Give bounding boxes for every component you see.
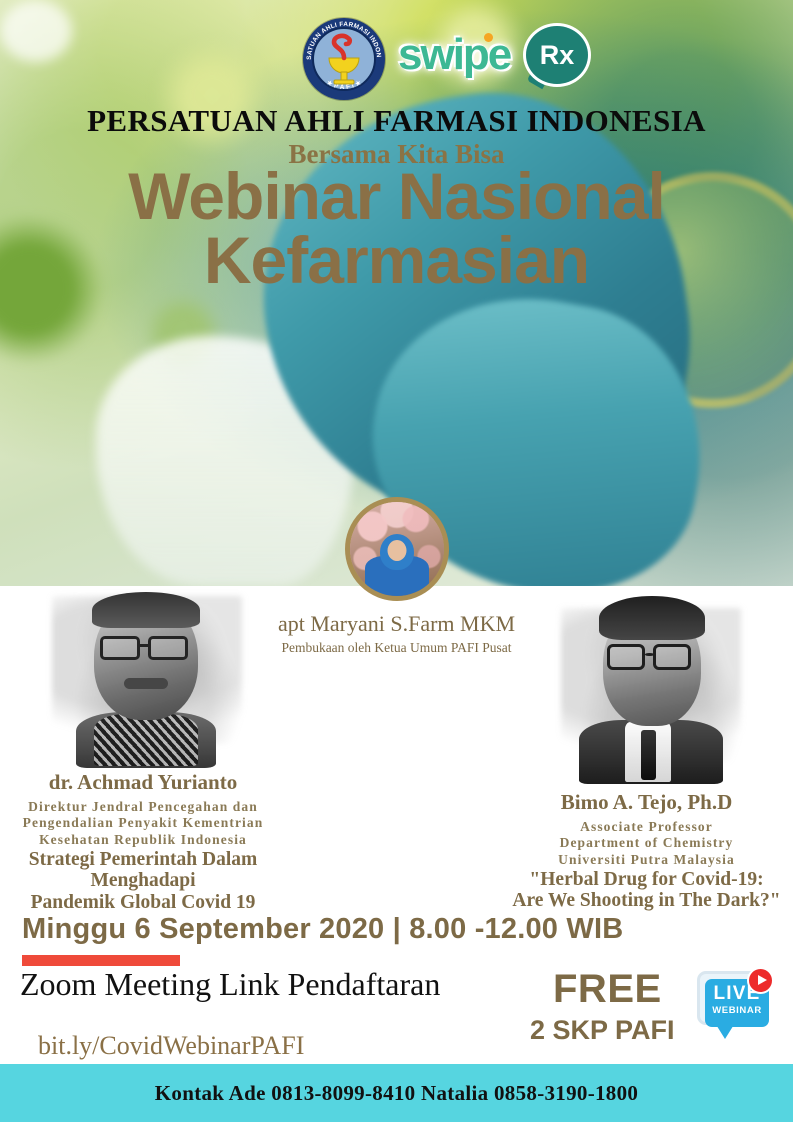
title-line-2: Kefarmasian: [0, 228, 793, 292]
title-line-1: Webinar Nasional: [128, 159, 665, 233]
speaker-left-affiliation: Direktur Jendral Pencegahan dan Pengenda…: [0, 799, 286, 848]
topic-line: "Herbal Drug for Covid-19:: [500, 869, 793, 890]
live-webinar-badge: LIVE WEBINAR: [693, 967, 777, 1045]
event-datetime: Minggu 6 September 2020 | 8.00 -12.00 WI…: [22, 913, 623, 946]
page-title: Webinar Nasional Kefarmasian: [0, 164, 793, 292]
affiliation-line: Kesehatan Republik Indonesia: [0, 832, 286, 848]
portrait-moustache: [124, 678, 168, 689]
price-label: FREE: [553, 967, 662, 1012]
avatar: [345, 497, 449, 601]
speaker-center-name: apt Maryani S.Farm MKM: [0, 611, 793, 637]
registration-link[interactable]: bit.ly/CovidWebinarPAFI: [38, 1031, 304, 1061]
portrait-batik-shirt: [94, 714, 198, 766]
credits-label: 2 SKP PAFI: [530, 1015, 675, 1046]
speaker-center-role: Pembukaan oleh Ketua Umum PAFI Pusat: [0, 640, 793, 656]
contact-text: Kontak Ade 0813-8099-8410 Natalia 0858-3…: [155, 1081, 638, 1106]
affiliation-line: Pengendalian Penyakit Kementrian: [0, 815, 286, 831]
speaker-right-topic: "Herbal Drug for Covid-19: Are We Shooti…: [500, 869, 793, 911]
affiliation-line: Department of Chemistry: [500, 835, 793, 851]
organization-title: PERSATUAN AHLI FARMASI INDONESIA: [0, 103, 793, 139]
topic-line: Are We Shooting in The Dark?": [500, 890, 793, 911]
contact-footer: Kontak Ade 0813-8099-8410 Natalia 0858-3…: [0, 1064, 793, 1122]
topic-line: Strategi Pemerintah Dalam Menghadapi: [0, 849, 286, 891]
swiperx-logo: swipe Rx: [398, 24, 588, 90]
speaker-center: apt Maryani S.Farm MKM Pembukaan oleh Ke…: [0, 497, 793, 656]
logo-row: PERSATUAN AHLI FARMASI INDONESIA ★ P A F…: [0, 8, 793, 94]
webinar-poster: PERSATUAN AHLI FARMASI INDONESIA ★ P A F…: [0, 0, 793, 1122]
swipe-dot-icon: [484, 33, 493, 42]
affiliation-line: Associate Professor: [500, 819, 793, 835]
accent-bar: [22, 955, 180, 966]
swipe-wordmark: swipe: [398, 30, 510, 80]
speaker-left-topic: Strategi Pemerintah Dalam Menghadapi Pan…: [0, 849, 286, 912]
pafi-logo: PERSATUAN AHLI FARMASI INDONESIA ★ P A F…: [303, 18, 385, 100]
portrait-tie: [641, 730, 656, 780]
rx-label: Rx: [526, 26, 588, 84]
affiliation-line: Direktur Jendral Pencegahan dan: [0, 799, 286, 815]
bowl-of-hygieia-icon: [303, 18, 385, 100]
speaker-right-name: Bimo A. Tejo, Ph.D: [500, 790, 793, 815]
badge-webinar-label: WEBINAR: [705, 1005, 769, 1016]
topic-line: Pandemik Global Covid 19: [0, 892, 286, 913]
avatar-face: [387, 540, 406, 561]
play-button-icon: [747, 967, 774, 994]
speaker-left-name: dr. Achmad Yurianto: [0, 770, 286, 795]
affiliation-line: Universiti Putra Malaysia: [500, 852, 793, 868]
platform-registration-label: Zoom Meeting Link Pendaftaran: [20, 966, 440, 1003]
speaker-right-affiliation: Associate Professor Department of Chemis…: [500, 819, 793, 868]
